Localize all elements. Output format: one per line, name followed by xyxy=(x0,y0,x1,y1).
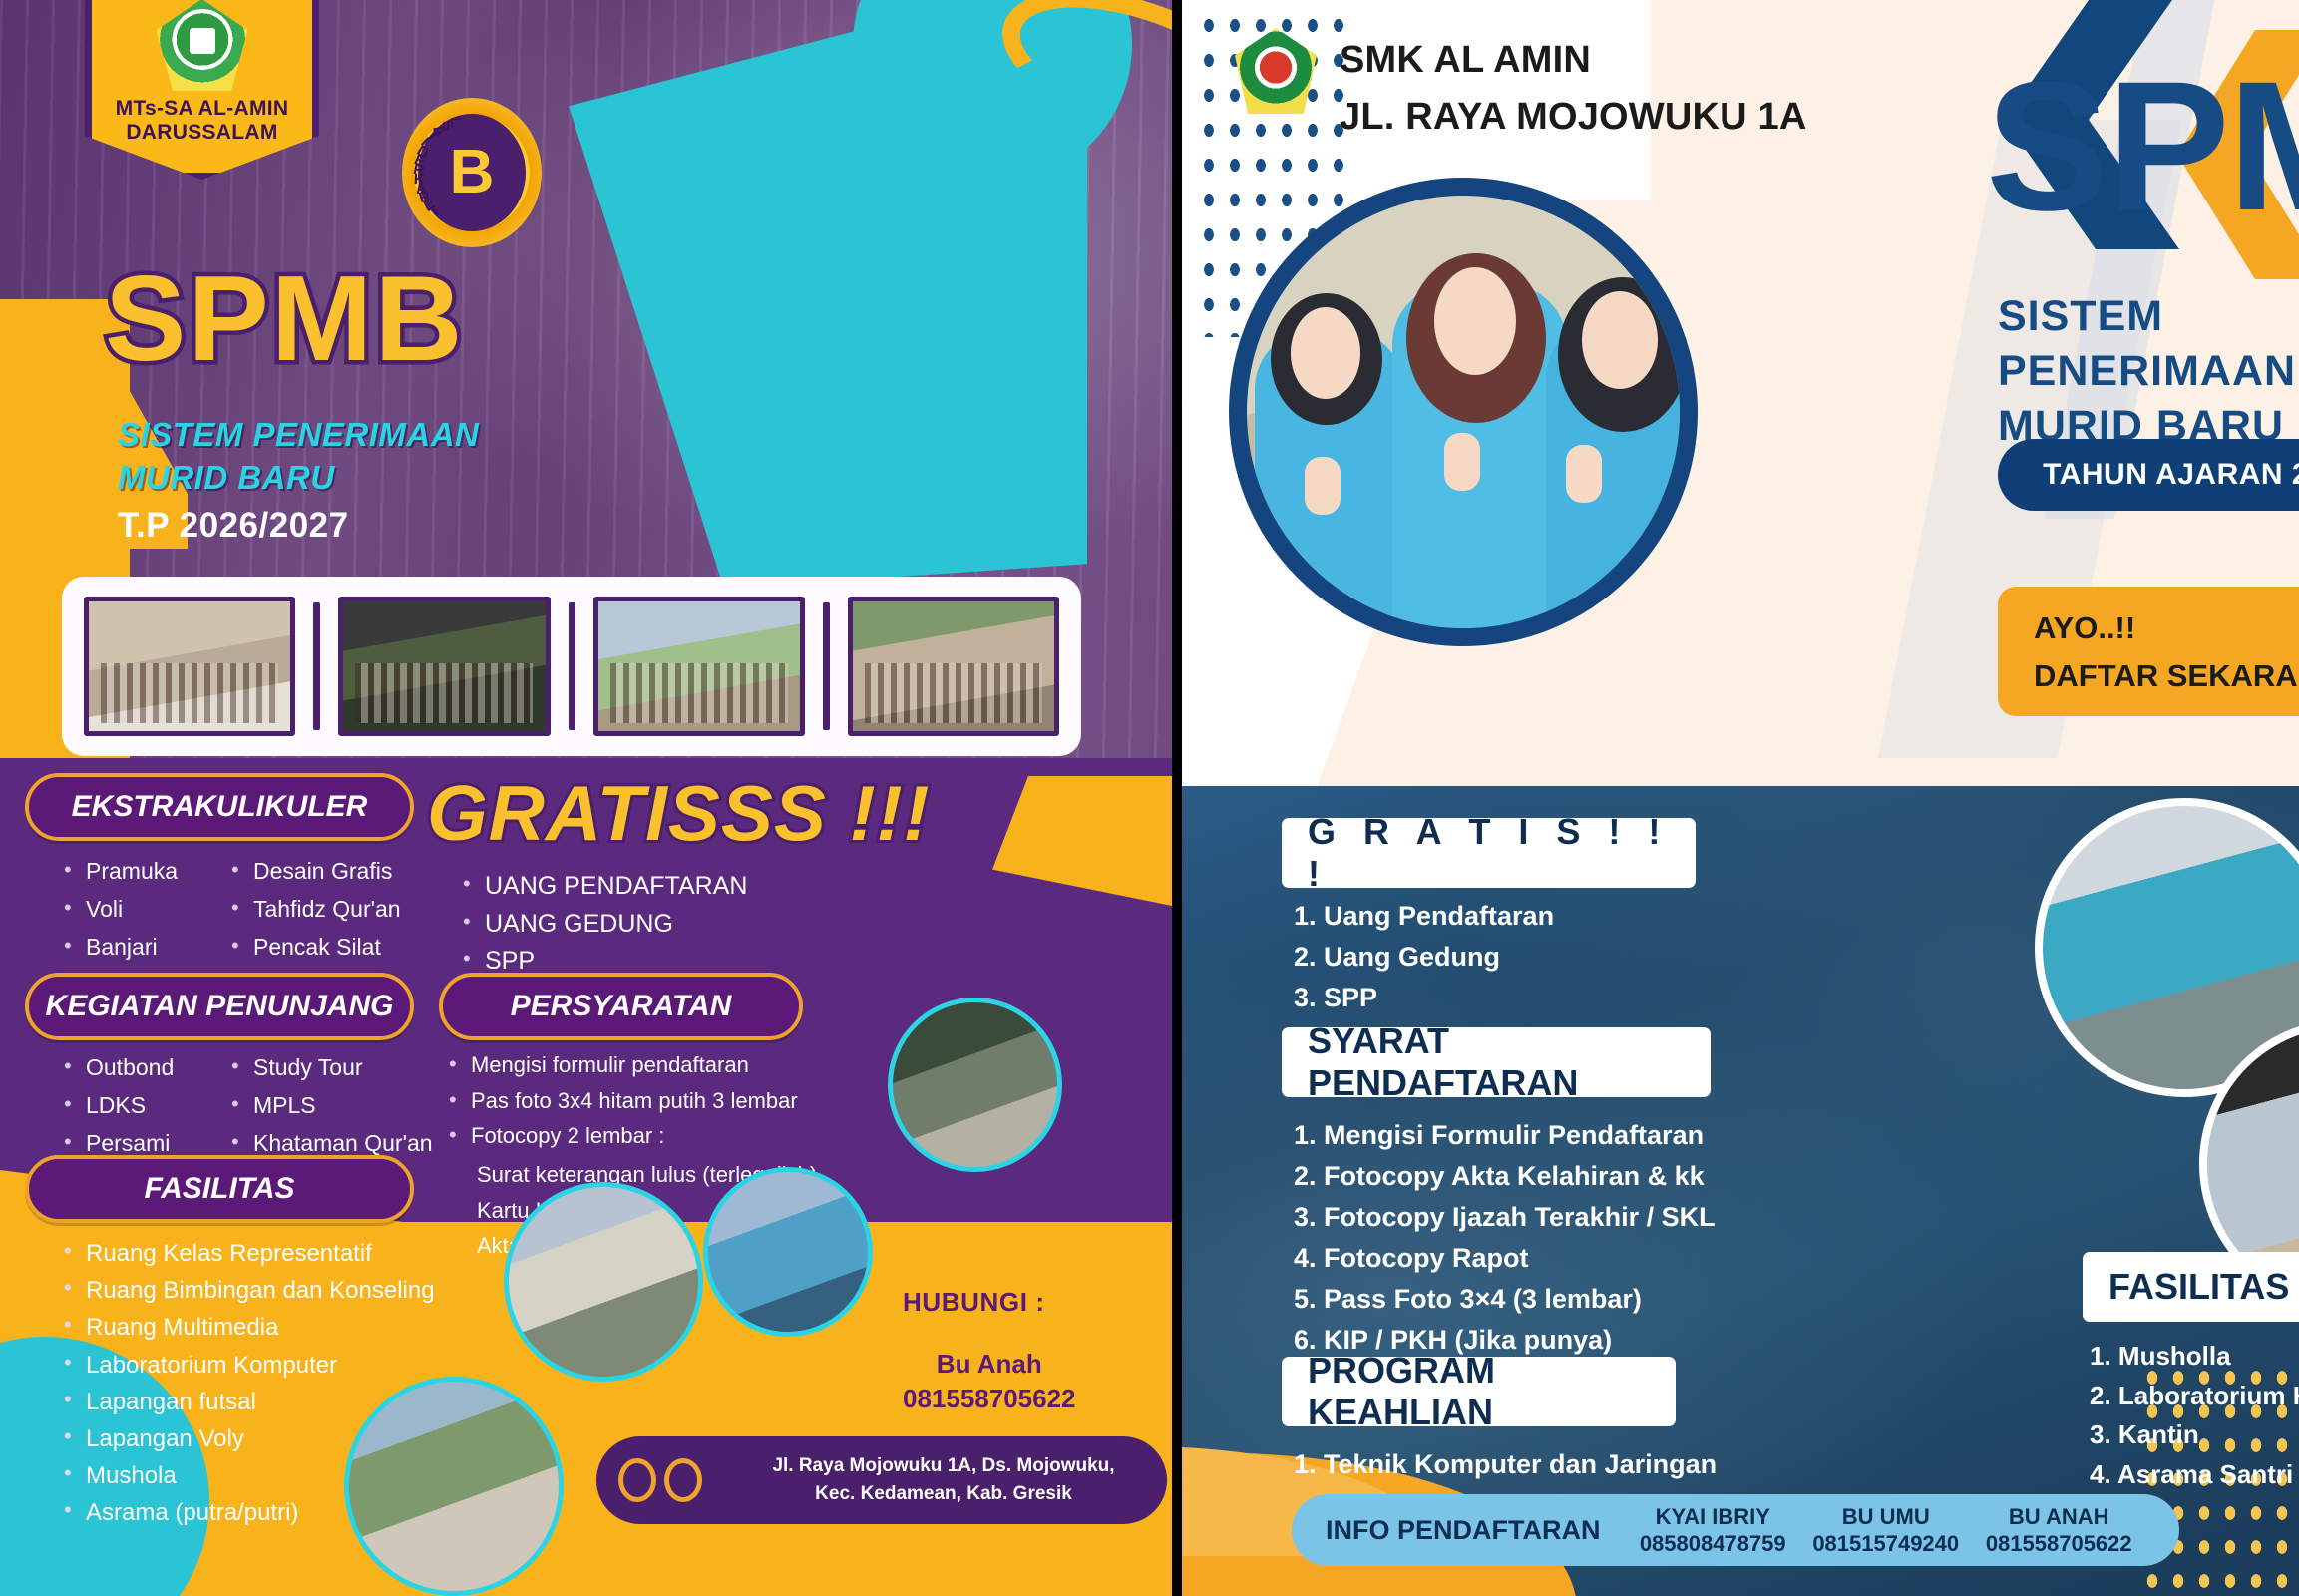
right-page-title: SPMB xyxy=(1986,62,2299,231)
list-item: MPLS xyxy=(229,1087,433,1125)
list-item: 1. Teknik Komputer dan Jaringan xyxy=(1294,1444,1717,1485)
list-item: Laboratorium Komputer xyxy=(62,1347,435,1384)
list-item: Outbond xyxy=(62,1049,174,1087)
banner-line-2: DARUSSALAM xyxy=(116,121,289,145)
list-item: 3. Fotocopy Ijazah Terakhir / SKL xyxy=(1294,1197,1716,1238)
list-item: Desain Grafis xyxy=(229,853,401,891)
list-item: Tahfidz Qur'an xyxy=(229,891,401,929)
accreditation-seal: B TERAKREDITASI xyxy=(402,98,542,247)
list-item: 5. Pass Foto 3×4 (3 lembar) xyxy=(1294,1279,1716,1320)
list-item: Study Tour xyxy=(229,1049,433,1087)
list-item: Mengisi formulir pendaftaran xyxy=(447,1047,798,1083)
photo-thumbnail xyxy=(338,597,550,736)
heading-persyaratan: PERSYARATAN xyxy=(439,973,803,1040)
list-item: 2. Fotocopy Akta Kelahiran & kk xyxy=(1294,1156,1716,1197)
strip-divider xyxy=(569,602,575,730)
list-item: Ruang Bimbingan dan Konseling xyxy=(62,1272,435,1309)
list-item: 3. Kantin xyxy=(2090,1415,2299,1455)
contact-block: Bu Anah 081558705622 xyxy=(903,1347,1076,1416)
strip-divider xyxy=(313,602,320,730)
list-item: LDKS xyxy=(62,1087,174,1125)
circle-photo-classroom xyxy=(888,997,1062,1172)
circle-photo-students xyxy=(504,1182,703,1382)
heading-ekstrakulikuler: EKSTRAKULIKULER xyxy=(25,773,414,841)
cta-line-2: DAFTAR SEKARANG xyxy=(2034,652,2299,700)
list-item: 2. Uang Gedung xyxy=(1294,937,1554,978)
list-item: Pas foto 3x4 hitam putih 3 lembar xyxy=(447,1083,798,1119)
ekstrakulikuler-column-1: Pramuka Voli Banjari xyxy=(62,853,178,967)
school-line-2: JL. RAYA MOJOWUKU 1A xyxy=(1340,89,1807,146)
heading-syarat-pendaftaran: SYARAT PENDAFTARAN xyxy=(1282,1027,1711,1097)
address-line-2: Kec. Kedamean, Kab. Gresik xyxy=(720,1480,1167,1508)
list-item: Fotocopy 2 lembar : xyxy=(447,1118,798,1154)
hero-student-illustration xyxy=(1229,178,1698,646)
heading-gratis: G R A T I S ! ! ! xyxy=(1282,818,1696,888)
left-subtitle: SISTEM PENERIMAAN MURID BARU xyxy=(118,414,479,500)
accreditation-label: TERAKREDITASI xyxy=(402,98,542,247)
left-subtitle-line1: SISTEM PENERIMAAN xyxy=(118,414,479,457)
cta-line-1: AYO..!! xyxy=(2034,604,2299,652)
photo-strip xyxy=(62,577,1081,756)
contact-phone[interactable]: 081558705622 xyxy=(903,1382,1076,1416)
kegiatan-column-1: Outbond LDKS Persami xyxy=(62,1049,174,1163)
year-badge: TAHUN AJARAN 2026-2027 xyxy=(1998,439,2299,511)
left-subtitle-line2: MURID BARU xyxy=(118,457,479,500)
list-item: 1. Uang Pendaftaran xyxy=(1294,896,1554,937)
photo-thumbnail xyxy=(848,597,1059,736)
program-keahlian-list: 1. Teknik Komputer dan Jaringan xyxy=(1294,1444,1717,1485)
circle-photo-building xyxy=(344,1377,564,1596)
heading-program-keahlian: PROGRAM KEAHLIAN xyxy=(1282,1357,1676,1426)
location-rings-icon xyxy=(618,1458,702,1502)
fasilitas-list-right: 1. Musholla 2. Laboratorium Komputer 3. … xyxy=(2090,1337,2299,1494)
list-item: 4. Fotocopy Rapot xyxy=(1294,1238,1716,1279)
list-item: 2. Laboratorium Komputer xyxy=(2090,1377,2299,1416)
heading-fasilitas: FASILITAS xyxy=(25,1155,414,1223)
circle-photo-group xyxy=(703,1167,873,1337)
contact-heading: HUBUNGI : xyxy=(903,1287,1045,1318)
poster-divider xyxy=(1172,0,1182,1596)
list-item: Pencak Silat xyxy=(229,929,401,967)
right-subtitle: SISTEM PENERIMAAN MURID BARU xyxy=(1998,289,2299,454)
gratis-headline: GRATISSS !!! xyxy=(427,768,931,859)
contact-name: BU ANAH xyxy=(1986,1503,2132,1531)
ekstrakulikuler-column-2: Desain Grafis Tahfidz Qur'an Pencak Sila… xyxy=(229,853,401,967)
left-academic-year: T.P 2026/2027 xyxy=(118,506,349,546)
list-item: UANG PENDAFTARAN xyxy=(461,868,747,906)
list-item: Ruang Kelas Representatif xyxy=(62,1235,435,1272)
list-item: UANG GEDUNG xyxy=(461,906,747,944)
left-page-title: SPMB xyxy=(105,257,464,379)
banner-line-1: MTs-SA AL-AMIN xyxy=(116,97,289,121)
right-subtitle-line1: SISTEM PENERIMAAN xyxy=(1998,289,2299,399)
list-item: 1. Mengisi Formulir Pendaftaran xyxy=(1294,1115,1716,1156)
list-item: 4. Asrama Santri (Putra/Putri) xyxy=(2090,1455,2299,1495)
photo-thumbnail xyxy=(593,597,805,736)
contact-phone: 081515749240 xyxy=(1812,1530,1959,1558)
contact-entry[interactable]: BU UMU 081515749240 xyxy=(1812,1503,1959,1558)
list-item: 1. Musholla xyxy=(2090,1337,2299,1377)
school-line-1: SMK AL AMIN xyxy=(1340,32,1807,89)
left-poster: MTs-SA AL-AMIN DARUSSALAM B TERAKREDITAS… xyxy=(0,0,1172,1596)
heading-fasilitas-right: FASILITAS xyxy=(2083,1252,2299,1322)
cta-banner[interactable]: AYO..!! DAFTAR SEKARANG xyxy=(1998,587,2299,716)
madrasah-crest-icon xyxy=(157,0,248,91)
poster-pair-canvas: MTs-SA AL-AMIN DARUSSALAM B TERAKREDITAS… xyxy=(0,0,2299,1596)
contact-entry[interactable]: BU ANAH 081558705622 xyxy=(1986,1503,2132,1558)
contact-entry[interactable]: KYAI IBRIY 085808478759 xyxy=(1640,1503,1786,1558)
persyaratan-list: Mengisi formulir pendaftaran Pas foto 3x… xyxy=(447,1047,798,1154)
info-pendaftaran-bar: INFO PENDAFTARAN KYAI IBRIY 085808478759… xyxy=(1292,1494,2179,1566)
list-item: 3. SPP xyxy=(1294,978,1554,1018)
contact-name: BU UMU xyxy=(1812,1503,1959,1531)
address-line-1: Jl. Raya Mojowuku 1A, Ds. Mojowuku, xyxy=(720,1452,1167,1480)
address-bar: Jl. Raya Mojowuku 1A, Ds. Mojowuku, Kec.… xyxy=(596,1436,1167,1524)
kegiatan-column-2: Study Tour MPLS Khataman Qur'an xyxy=(229,1049,433,1163)
right-poster: SMK AL AMIN JL. RAYA MOJOWUKU 1A SPMB SI… xyxy=(1182,0,2299,1596)
heading-kegiatan-penunjang: KEGIATAN PENUNJANG xyxy=(25,973,414,1040)
list-item: Voli xyxy=(62,891,178,929)
photo-thumbnail xyxy=(84,597,295,736)
strip-divider xyxy=(823,602,830,730)
contact-phone: 081558705622 xyxy=(1986,1530,2132,1558)
list-item: Ruang Multimedia xyxy=(62,1309,435,1346)
right-school-name: SMK AL AMIN JL. RAYA MOJOWUKU 1A xyxy=(1340,32,1807,146)
syarat-list: 1. Mengisi Formulir Pendaftaran 2. Fotoc… xyxy=(1294,1115,1716,1361)
contact-phone: 085808478759 xyxy=(1640,1530,1786,1558)
list-item: Banjari xyxy=(62,929,178,967)
info-bar-label: INFO PENDAFTARAN xyxy=(1326,1515,1600,1546)
contact-name: KYAI IBRIY xyxy=(1640,1503,1786,1531)
list-item: Pramuka xyxy=(62,853,178,891)
contact-name: Bu Anah xyxy=(903,1347,1076,1382)
